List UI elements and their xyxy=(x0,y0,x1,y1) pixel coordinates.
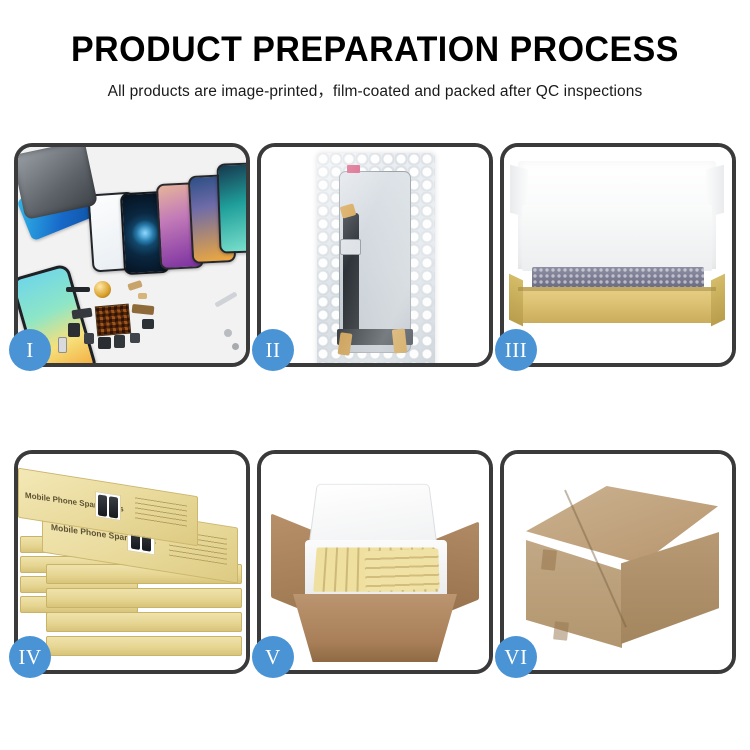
carton-with-foam-case-illustration xyxy=(261,454,489,670)
spare-tool xyxy=(214,291,237,307)
box-stack: Mobile Phone Spare Parts Mobile Phone Sp… xyxy=(18,464,246,664)
foam-lined-box-illustration xyxy=(504,147,732,363)
stacked-retail-boxes-illustration: Mobile Phone Spare Parts Mobile Phone Sp… xyxy=(18,454,246,670)
process-step-6: VI xyxy=(500,450,736,674)
step-badge-3: III xyxy=(495,329,537,371)
page-title: PRODUCT PREPARATION PROCESS xyxy=(11,30,739,70)
carton-tape-patch xyxy=(541,549,557,570)
spare-part xyxy=(138,293,147,299)
page-subtitle: All products are image-printed，film-coat… xyxy=(0,79,750,101)
process-step-grid: I II xyxy=(14,143,736,674)
spare-part xyxy=(71,308,92,320)
foam-back-wall xyxy=(522,205,712,271)
step-badge-6: VI xyxy=(495,636,537,678)
box-layer xyxy=(46,612,242,632)
step-2-image xyxy=(261,147,489,363)
spare-part xyxy=(127,280,142,291)
carton-tape-patch xyxy=(553,621,569,640)
carton-body xyxy=(293,594,457,662)
step-badge-1: I xyxy=(9,329,51,371)
connector-chip-grid xyxy=(95,304,131,337)
spare-screw xyxy=(232,343,239,350)
step-badge-4: IV xyxy=(9,636,51,678)
box-fold-line xyxy=(518,287,716,291)
spare-part xyxy=(98,337,111,349)
process-step-1: I xyxy=(14,143,250,367)
spare-part xyxy=(58,337,67,353)
spare-screw xyxy=(224,329,232,337)
step-4-image: Mobile Phone Spare Parts Mobile Phone Sp… xyxy=(18,454,246,670)
vibration-motor-part xyxy=(94,281,111,298)
spare-part xyxy=(132,304,155,315)
poster-header: PRODUCT PREPARATION PROCESS All products… xyxy=(0,0,750,101)
poster-root: PRODUCT PREPARATION PROCESS All products… xyxy=(0,0,750,750)
phones-and-parts-illustration xyxy=(18,147,246,363)
step-badge-5: V xyxy=(252,636,294,678)
process-step-3: III xyxy=(500,143,736,367)
process-step-2: II xyxy=(257,143,493,367)
bubble-wrap-bag xyxy=(317,153,435,363)
inner-kraft-boxes-secondary xyxy=(364,549,439,592)
kraft-box-base xyxy=(518,287,716,323)
spare-part xyxy=(66,287,90,292)
box-lid-product-photo xyxy=(95,491,121,521)
plastic-sheen-overlay xyxy=(317,153,435,363)
step-5-image xyxy=(261,454,489,670)
process-step-4: Mobile Phone Spare Parts Mobile Phone Sp… xyxy=(14,450,250,674)
box-layer xyxy=(46,588,242,608)
process-step-5: V xyxy=(257,450,493,674)
spare-part xyxy=(130,333,140,343)
step-badge-2: II xyxy=(252,329,294,371)
spare-part xyxy=(142,319,154,329)
sealed-carton-illustration xyxy=(504,454,732,670)
spare-part xyxy=(114,335,125,348)
box-layer xyxy=(46,636,242,656)
spare-part xyxy=(84,333,94,344)
step-1-image xyxy=(18,147,246,363)
phone-screen-teal xyxy=(216,162,246,253)
step-6-image xyxy=(504,454,732,670)
spare-part xyxy=(68,323,80,337)
foam-case-lid xyxy=(309,484,438,544)
bubble-wrapped-screen-illustration xyxy=(261,147,489,363)
carton-front-face xyxy=(526,540,622,648)
box-lid-spec-lines xyxy=(135,497,187,529)
step-3-image xyxy=(504,147,732,363)
